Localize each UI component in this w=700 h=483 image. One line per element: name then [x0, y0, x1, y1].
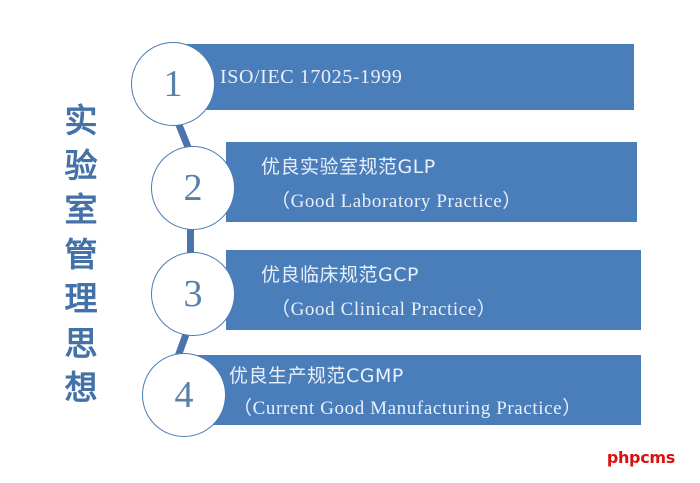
- watermark-phpcms: phpcms: [607, 448, 675, 467]
- step-circle-4[interactable]: 4: [142, 353, 226, 437]
- vertical-title-char-4: 管: [65, 238, 98, 271]
- vertical-title-char-7: 想: [65, 371, 98, 404]
- vertical-title-char-5: 理: [65, 282, 98, 315]
- vertical-title-char-3: 室: [65, 193, 98, 226]
- item-bar-4[interactable]: 优良生产规范CGMP （Current Good Manufacturing P…: [197, 355, 641, 425]
- item-bar-1[interactable]: ISO/IEC 17025-1999: [176, 44, 634, 110]
- vertical-title: 实 验 室 管 理 思 想: [53, 104, 109, 404]
- slide-canvas: 实 验 室 管 理 思 想 ISO/IEC 17025-1999 1 优良实验室…: [0, 0, 700, 483]
- step-circle-1[interactable]: 1: [131, 42, 215, 126]
- step-number-3: 3: [184, 275, 203, 313]
- item-3-line-1: 优良临床规范GCP: [226, 260, 641, 287]
- item-1-line-1: ISO/IEC 17025-1999: [176, 66, 634, 89]
- item-2-line-1: 优良实验室规范GLP: [226, 152, 637, 179]
- step-circle-2[interactable]: 2: [151, 146, 235, 230]
- item-bar-3[interactable]: 优良临床规范GCP （Good Clinical Practice）: [226, 250, 641, 330]
- step-circle-3[interactable]: 3: [151, 252, 235, 336]
- vertical-title-char-6: 思: [65, 327, 98, 360]
- step-number-1: 1: [164, 65, 183, 103]
- vertical-title-char-2: 验: [65, 149, 98, 182]
- item-bar-2[interactable]: 优良实验室规范GLP （Good Laboratory Practice）: [226, 142, 637, 222]
- item-3-line-2: （Good Clinical Practice）: [226, 294, 641, 321]
- step-number-4: 4: [175, 376, 194, 414]
- step-number-2: 2: [184, 169, 203, 207]
- item-4-line-1: 优良生产规范CGMP: [197, 361, 641, 388]
- item-4-line-2: （Current Good Manufacturing Practice）: [197, 393, 641, 420]
- item-2-line-2: （Good Laboratory Practice）: [226, 186, 637, 213]
- vertical-title-char-1: 实: [65, 104, 98, 137]
